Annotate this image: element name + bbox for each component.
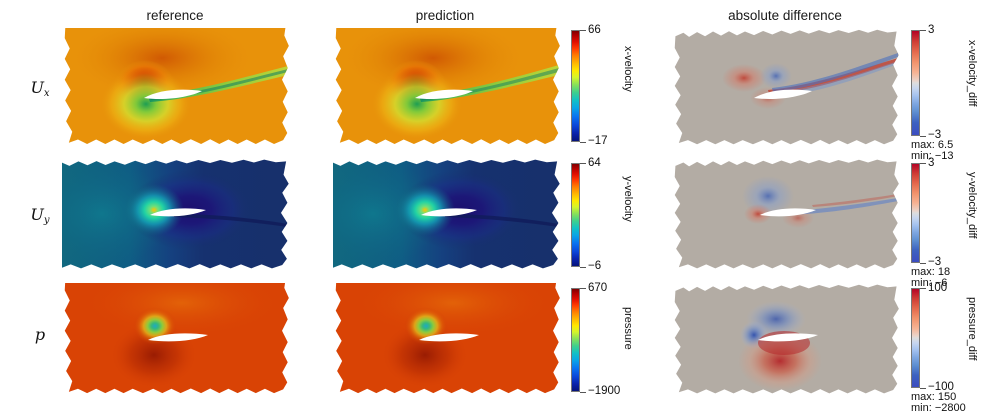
row-label-uy-base: U [30, 205, 43, 224]
colorbar-pressure [571, 288, 580, 392]
colorbar-x-velocity-diff [911, 30, 920, 136]
colorbar-pressure-min-label: −1900 [588, 385, 620, 397]
colorbar-x-velocity-tick-max [580, 30, 586, 31]
colorbar-y-velocity-diff-tick-min [920, 263, 926, 264]
row-label-ux: Ux [18, 78, 62, 97]
plot-p-reference [62, 283, 290, 395]
plot-p-prediction [333, 283, 561, 395]
airfoil-uy-prediction [333, 158, 561, 270]
plot-ux-prediction [333, 28, 561, 146]
plot-p-difference [672, 283, 900, 395]
plot-uy-reference [62, 158, 290, 270]
colorbar-y-velocity [571, 163, 580, 267]
colorbar-pressure-tick-min [580, 392, 586, 393]
colorbar-y-velocity-max-label: 64 [588, 157, 601, 169]
colorbar-x-velocity-diff-max-label: 3 [928, 24, 934, 36]
colorbar-x-velocity-diff-tick-max [920, 30, 926, 31]
row-label-p: p [18, 325, 62, 344]
airfoil-uy-difference [672, 158, 900, 270]
row-label-ux-sub: x [44, 88, 50, 99]
colorbar-y-velocity-diff [911, 163, 920, 263]
colorbar-x-velocity-max-label: 66 [588, 24, 601, 36]
colorbar-y-velocity-tick-max [580, 163, 586, 164]
colorbar-pressure-tick-max [580, 288, 586, 289]
colorbar-pressure-diff-max-label: 100 [928, 282, 947, 294]
airfoil-ux-prediction [333, 28, 561, 146]
plot-uy-prediction [333, 158, 561, 270]
airfoil-p-prediction [333, 283, 561, 395]
plot-ux-difference [672, 28, 900, 146]
plot-uy-difference [672, 158, 900, 270]
colorbar-y-velocity-min-label: −6 [588, 260, 601, 272]
row-label-uy-sub: y [44, 215, 50, 226]
figure-canvas: reference prediction absolute difference… [0, 0, 1000, 405]
airfoil-uy-reference [62, 158, 290, 270]
column-title-prediction: prediction [330, 8, 560, 23]
column-title-difference: absolute difference [660, 8, 910, 23]
row-label-p-base: p [35, 325, 45, 344]
stat-pressure-diff-min: min: −2800 [911, 402, 966, 415]
colorbar-y-velocity-diff-tick-max [920, 163, 926, 164]
colorbar-y-velocity-tick-min [580, 267, 586, 268]
colorbar-y-velocity-diff-max-label: 3 [928, 157, 934, 169]
colorbar-pressure-title: pressure [622, 307, 634, 350]
column-title-reference: reference [60, 8, 290, 23]
airfoil-p-difference [672, 283, 900, 395]
colorbar-y-velocity-title: y-velocity [622, 176, 634, 222]
plot-ux-reference [62, 28, 290, 146]
airfoil-p-reference [62, 283, 290, 395]
colorbar-x-velocity-title: x-velocity [622, 46, 634, 92]
colorbar-x-velocity [571, 30, 580, 142]
colorbar-x-velocity-min-label: −17 [588, 135, 608, 147]
row-label-uy: Uy [18, 205, 62, 224]
colorbar-x-velocity-tick-min [580, 142, 586, 143]
colorbar-x-velocity-diff-tick-min [920, 136, 926, 137]
airfoil-ux-difference [672, 28, 900, 146]
airfoil-ux-reference [62, 28, 290, 146]
colorbar-y-velocity-diff-title: y-velocity_diff [966, 172, 978, 238]
colorbar-pressure-diff-tick-max [920, 288, 926, 289]
colorbar-x-velocity-diff-title: x-velocity_diff [966, 40, 978, 106]
colorbar-pressure-max-label: 670 [588, 282, 607, 294]
colorbar-pressure-diff [911, 288, 920, 388]
colorbar-pressure-diff-title: pressure_diff [966, 297, 978, 360]
colorbar-pressure-diff-tick-min [920, 388, 926, 389]
row-label-ux-base: U [30, 78, 43, 97]
